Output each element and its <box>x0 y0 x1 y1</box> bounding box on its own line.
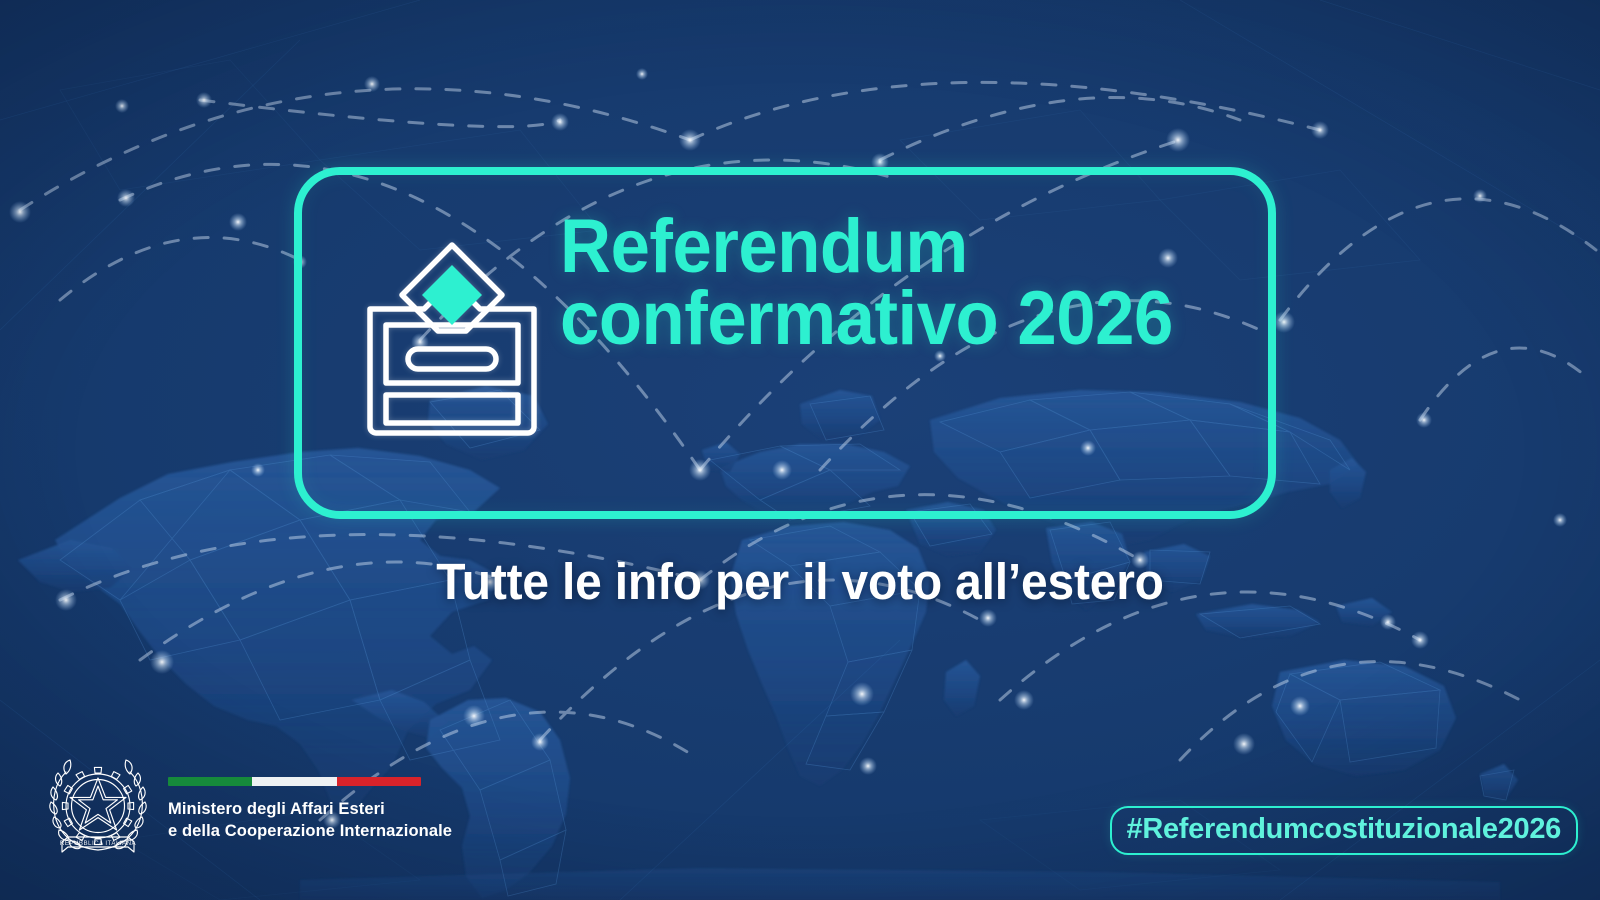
ministry-name-line-2: e della Cooperazione Internazionale <box>168 821 452 843</box>
italian-flag-bar <box>168 777 421 786</box>
page-title: Referendum confermativo 2026 <box>560 211 1211 355</box>
ballot-box-icon <box>362 231 542 441</box>
hashtag-badge[interactable]: #Referendumcostituzionale2026 <box>1110 806 1579 855</box>
flag-stripe-red <box>337 777 421 786</box>
hero-frame: Referendum confermativo 2026 <box>294 167 1276 519</box>
emblem-ribbon-text: REPUBBLICA ITALIANA <box>60 840 137 847</box>
flag-stripe-white <box>252 777 336 786</box>
ministry-logo-lockup: REPUBBLICA ITALIANA Ministero degli Affa… <box>46 752 452 864</box>
ministry-name-line-1: Ministero degli Affari Esteri <box>168 799 452 821</box>
banner-canvas: Referendum confermativo 2026 Tutte le in… <box>0 0 1600 900</box>
flag-stripe-green <box>168 777 252 786</box>
emblem-of-italy-icon: REPUBBLICA ITALIANA <box>46 752 150 864</box>
hero-subtitle: Tutte le info per il voto all’estero <box>48 552 1552 611</box>
ministry-text-block: Ministero degli Affari Esteri e della Co… <box>168 773 452 843</box>
